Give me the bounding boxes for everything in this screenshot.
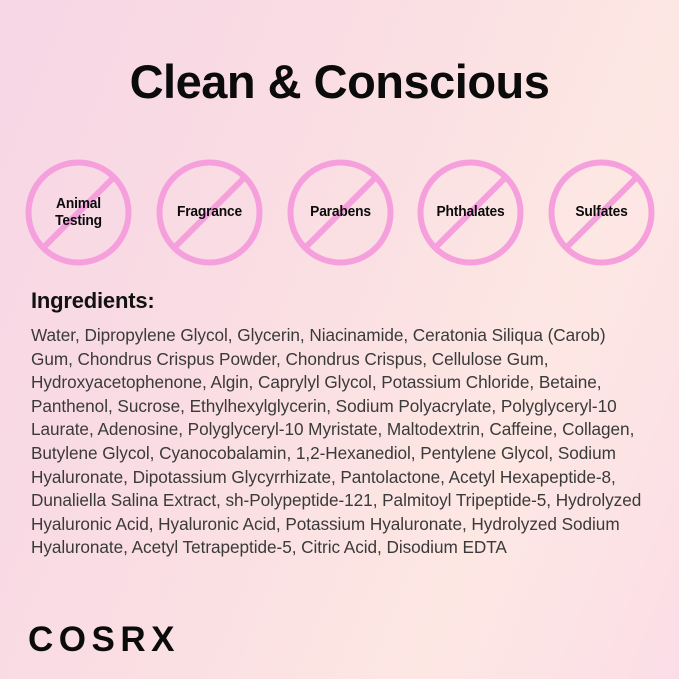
badge-animal-testing: Animal Testing bbox=[22, 156, 135, 269]
brand-logo: COSRX bbox=[28, 622, 180, 657]
page-title: Clean & Conscious bbox=[0, 57, 679, 108]
ingredients-list: Water, Dipropylene Glycol, Glycerin, Nia… bbox=[31, 324, 647, 560]
ingredients-heading: Ingredients: bbox=[31, 288, 155, 314]
badge-label: Phthalates bbox=[419, 204, 523, 221]
badge-label: Animal Testing bbox=[27, 196, 131, 230]
badge-label: Parabens bbox=[288, 204, 392, 221]
badge-label: Sulfates bbox=[550, 204, 654, 221]
badge-phthalates: Phthalates bbox=[414, 156, 527, 269]
badge-sulfates: Sulfates bbox=[545, 156, 658, 269]
badge-parabens: Parabens bbox=[284, 156, 397, 269]
badge-label: Fragrance bbox=[157, 204, 261, 221]
product-info-card: Clean & Conscious Animal Testing Fragran… bbox=[0, 0, 679, 679]
free-from-badge-row: Animal Testing Fragrance Parabens bbox=[22, 156, 658, 269]
badge-fragrance: Fragrance bbox=[153, 156, 266, 269]
